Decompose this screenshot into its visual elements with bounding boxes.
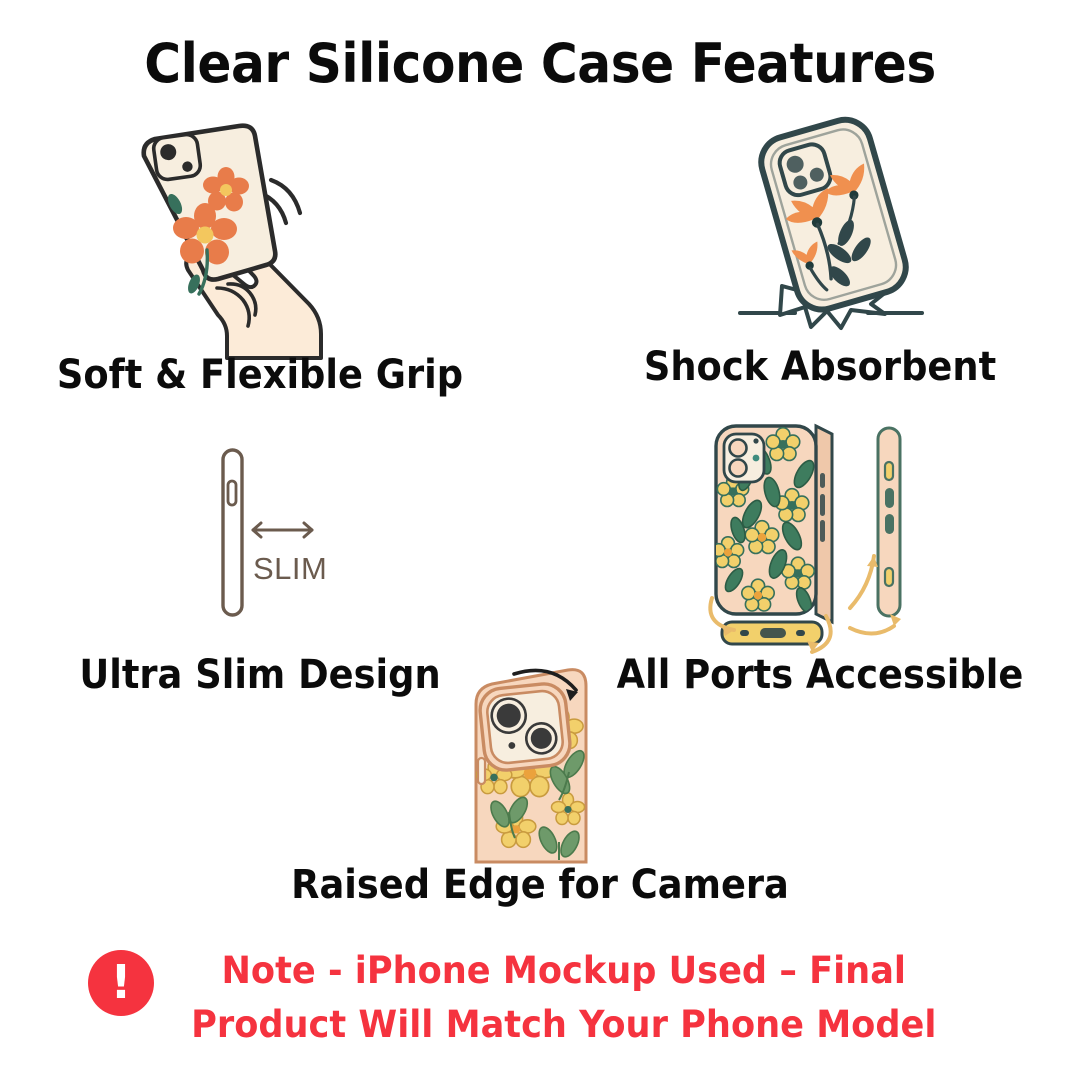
infographic-canvas: Clear Silicone Case Features: [0, 0, 1080, 1080]
phone-ports-cutouts-icon: [700, 418, 932, 663]
feature-label-ultra-slim-design: Ultra Slim Design: [21, 652, 499, 698]
phone-side-profile-thickness-icon: SLIM: [182, 432, 382, 632]
phone-drop-impact-icon: [700, 108, 962, 348]
hand-holding-flexing-phone-case-icon: [108, 118, 408, 358]
phone-raised-camera-bump-icon: [452, 662, 642, 862]
feature-label-soft-flexible-grip: Soft & Flexible Grip: [21, 352, 499, 398]
feature-label-raised-edge-for-camera: Raised Edge for Camera: [43, 862, 1037, 908]
page-title: Clear Silicone Case Features: [38, 32, 1042, 95]
disclaimer-note-text: Note - iPhone Mockup Used – Final Produc…: [84, 944, 996, 1051]
feature-label-shock-absorbent: Shock Absorbent: [581, 344, 1059, 390]
disclaimer-note: ! Note - iPhone Mockup Used – Final Prod…: [0, 944, 1080, 1051]
feature-label-all-ports-accessible: All Ports Accessible: [581, 652, 1059, 698]
slim-caption: SLIM: [253, 551, 327, 586]
